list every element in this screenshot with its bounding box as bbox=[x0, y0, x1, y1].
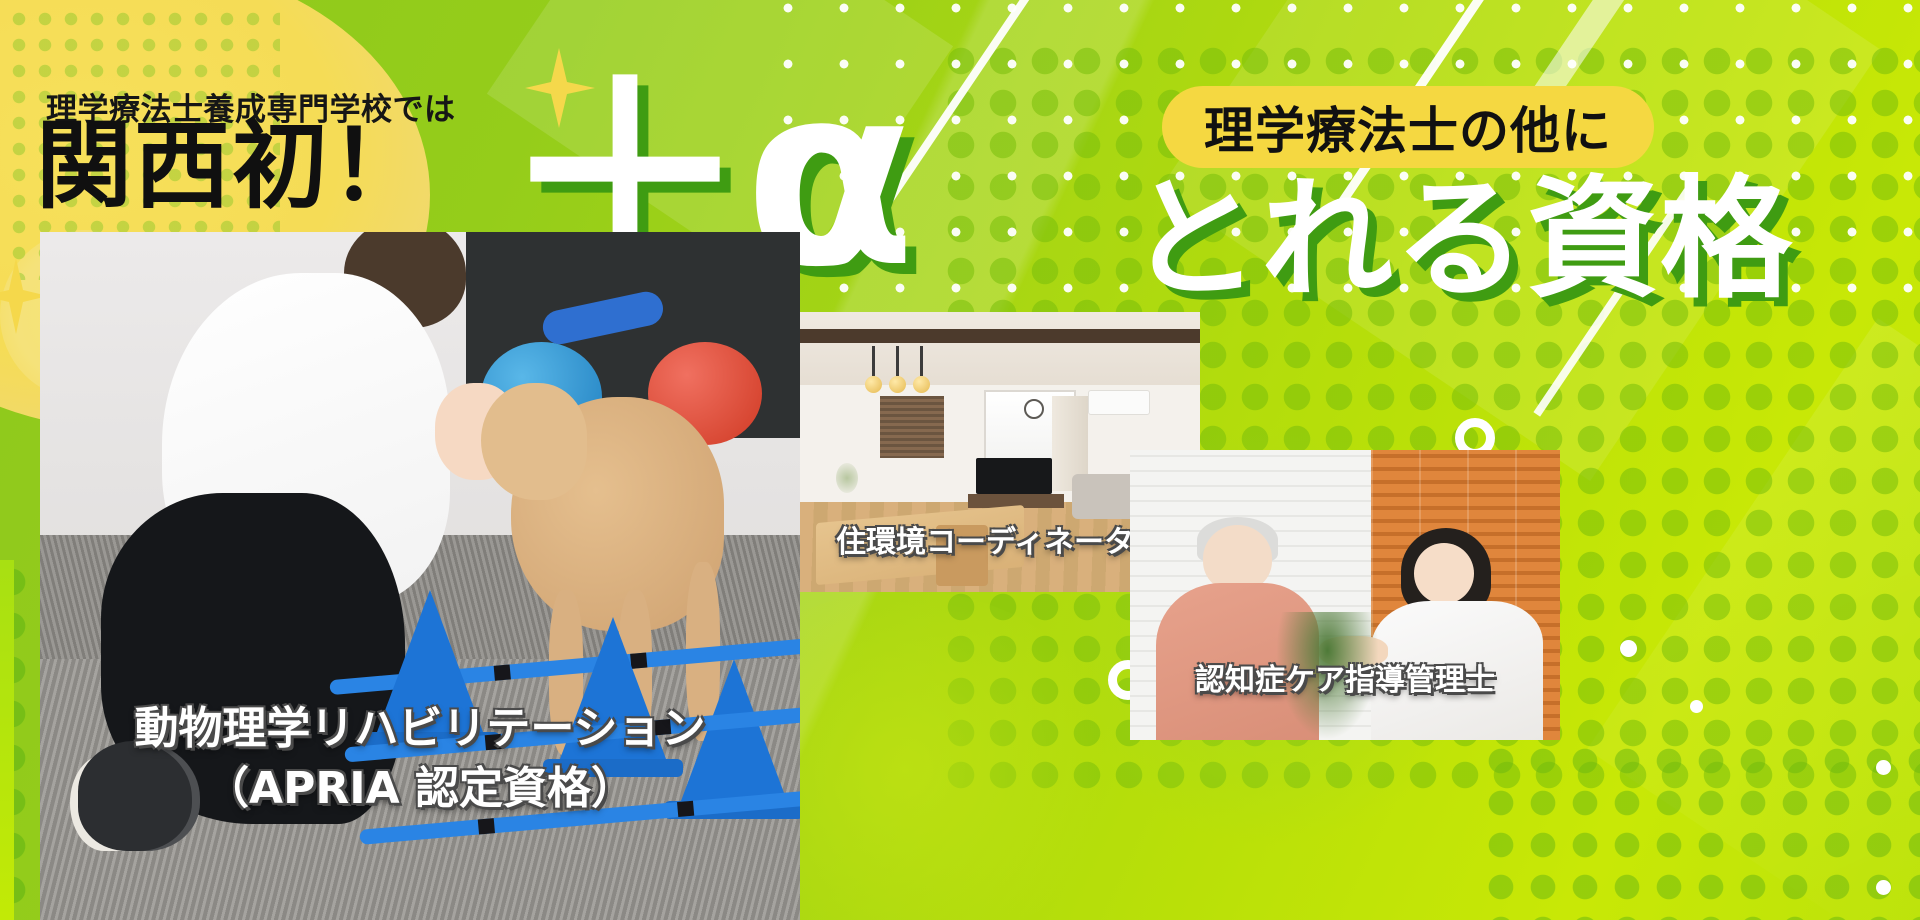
scene-beam bbox=[800, 329, 1200, 343]
banner-headline: 関西初！ bbox=[36, 118, 428, 214]
scene-plant bbox=[836, 463, 858, 493]
photo-label-line1: 動物理学リハビリテーション bbox=[40, 692, 800, 756]
dot-icon bbox=[1876, 880, 1891, 895]
banner-subheadline: とれる資格 bbox=[1128, 174, 1793, 306]
scene-clock bbox=[1024, 399, 1044, 419]
background-left-edge-bar bbox=[0, 560, 14, 920]
scene-elder-head bbox=[1203, 525, 1272, 592]
scene-pendant-light bbox=[872, 346, 875, 376]
scene-pendant-light bbox=[896, 346, 899, 376]
promotional-banner: 理学療法士養成専門学校では 関西初！ ＋α 理学療法士の他に とれる資格 bbox=[0, 0, 1920, 920]
background-dot-pattern-bottom-right bbox=[1480, 740, 1920, 920]
badge-label: 理学療法士の他に bbox=[1204, 91, 1612, 163]
scene-pendant-light bbox=[920, 346, 923, 376]
scene-caregiver-head bbox=[1414, 543, 1474, 604]
photo-label-line2: （APRIA 認定資格） bbox=[40, 752, 800, 816]
scene-tv bbox=[976, 458, 1052, 494]
badge-pill: 理学療法士の他に bbox=[1162, 86, 1654, 168]
scene-dog-head bbox=[481, 383, 587, 500]
photo-animal-rehab: 動物理学リハビリテーション （APRIA 認定資格） bbox=[40, 232, 800, 920]
dot-icon bbox=[1876, 760, 1891, 775]
photo-scene bbox=[40, 232, 800, 920]
scene-air-conditioner bbox=[1088, 390, 1150, 414]
photo-label-line1: 認知症ケア指導管理士 bbox=[1130, 655, 1560, 699]
scene-blind bbox=[880, 396, 944, 458]
scene-ceiling bbox=[800, 312, 1200, 385]
photo-dementia-care: 認知症ケア指導管理士 bbox=[1130, 450, 1560, 740]
dot-icon bbox=[1620, 640, 1637, 657]
dot-icon bbox=[1690, 700, 1703, 713]
